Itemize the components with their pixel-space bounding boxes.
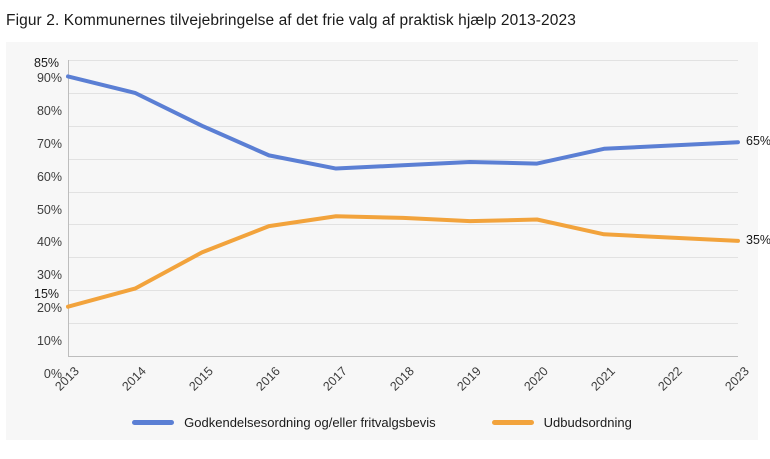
gridline	[68, 356, 738, 357]
legend-swatch-icon	[492, 420, 534, 425]
y-axis-labels: 0%10%20%30%40%50%60%70%80%90%	[6, 60, 62, 356]
x-axis-labels: 2013201420152016201720182019202020212022…	[68, 360, 738, 420]
y-axis-tick-label: 60%	[16, 170, 62, 184]
page-title: Figur 2. Kommunernes tilvejebringelse af…	[0, 0, 770, 30]
x-axis-tick-label: 2014	[106, 364, 148, 406]
series-line	[68, 216, 738, 306]
legend-swatch-icon	[132, 420, 174, 425]
chart-legend: Godkendelsesordning og/eller fritvalgsbe…	[6, 415, 758, 430]
series-line	[68, 76, 738, 168]
y-axis-tick-label: 50%	[16, 203, 62, 217]
y-axis-tick-label: 40%	[16, 235, 62, 249]
y-axis-tick-label: 20%	[16, 301, 62, 315]
legend-item[interactable]: Udbudsordning	[492, 415, 632, 430]
legend-item[interactable]: Godkendelsesordning og/eller fritvalgsbe…	[132, 415, 435, 430]
x-axis-tick-label: 2022	[642, 364, 684, 406]
x-axis-tick-label: 2020	[508, 364, 550, 406]
data-point-label: 35%	[746, 233, 770, 247]
y-axis-tick-label: 80%	[16, 104, 62, 118]
x-axis-tick-label: 2015	[173, 364, 215, 406]
x-axis-tick-label: 2018	[374, 364, 416, 406]
y-axis-tick-label: 30%	[16, 268, 62, 282]
plot-area: 85%65%15%35%	[68, 60, 738, 356]
x-axis-tick-label: 2016	[240, 364, 282, 406]
line-chart-svg	[68, 60, 738, 356]
data-point-label: 65%	[746, 134, 770, 148]
y-axis-tick-label: 90%	[16, 71, 62, 85]
y-axis-tick-label: 70%	[16, 137, 62, 151]
legend-label: Godkendelsesordning og/eller fritvalgsbe…	[184, 415, 435, 430]
y-axis-tick-label: 0%	[16, 367, 62, 381]
data-point-label: 85%	[34, 56, 59, 70]
x-axis-tick-label: 2017	[307, 364, 349, 406]
x-axis-tick-label: 2021	[575, 364, 617, 406]
chart-card: 0%10%20%30%40%50%60%70%80%90% 85%65%15%3…	[6, 42, 758, 440]
legend-label: Udbudsordning	[544, 415, 632, 430]
x-axis-tick-label: 2019	[441, 364, 483, 406]
y-axis-tick-label: 10%	[16, 334, 62, 348]
data-point-label: 15%	[34, 287, 59, 301]
x-axis-tick-label: 2023	[709, 364, 751, 406]
